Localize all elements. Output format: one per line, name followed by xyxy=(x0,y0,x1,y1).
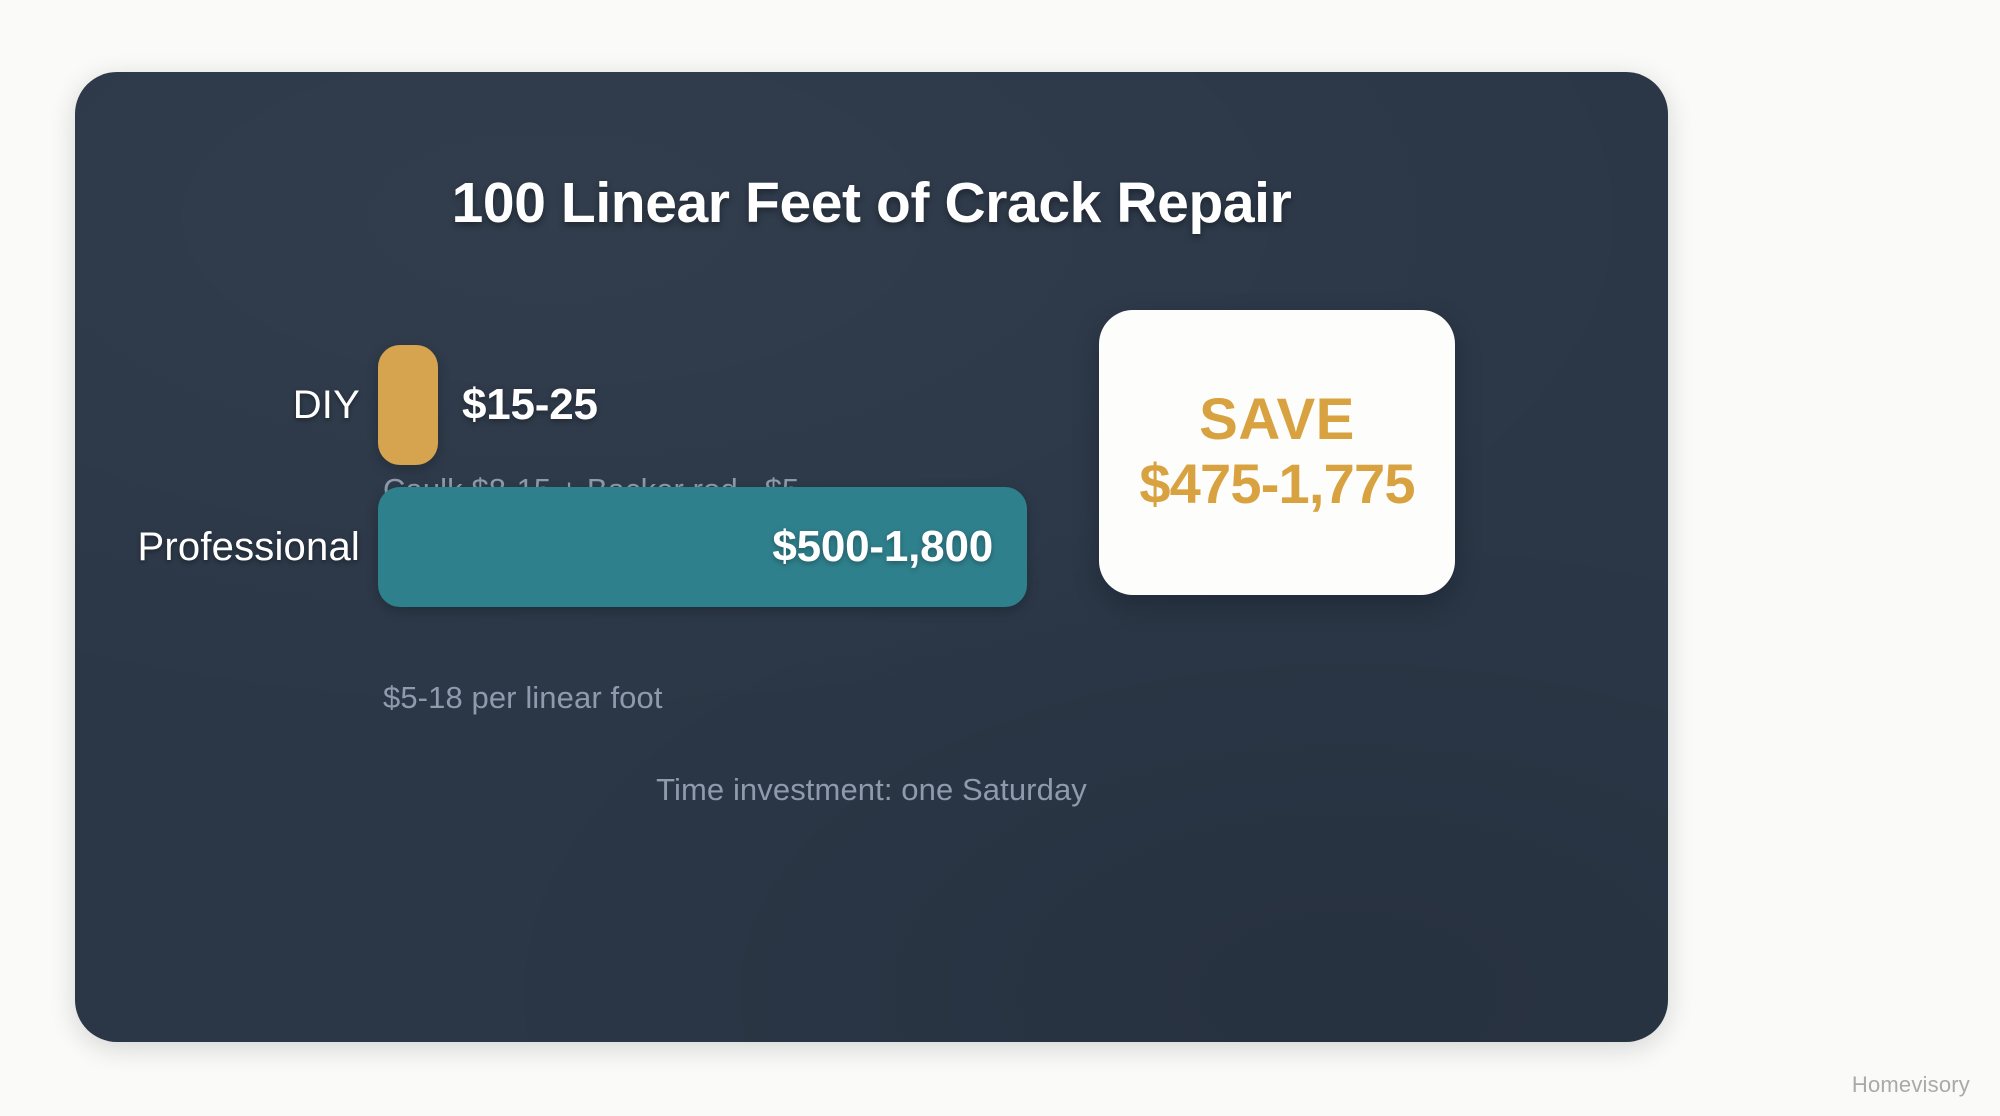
bar-track-professional: $500-1,800 xyxy=(378,487,1668,607)
bar-professional: $500-1,800 xyxy=(378,487,1027,607)
brand-watermark: Homevisory xyxy=(1852,1072,1970,1098)
savings-amount: $475-1,775 xyxy=(1139,453,1414,516)
bar-track-diy: $15-25 xyxy=(378,345,1668,465)
savings-callout-card: SAVE $475-1,775 xyxy=(1099,310,1455,595)
time-investment-note: Time investment: one Saturday xyxy=(75,772,1668,808)
infographic-panel: 100 Linear Feet of Crack Repair DIY $15-… xyxy=(75,72,1668,1042)
bar-diy xyxy=(378,345,438,465)
bar-value-professional: $500-1,800 xyxy=(772,522,993,572)
row-label-professional: Professional xyxy=(75,525,378,570)
row-label-diy: DIY xyxy=(75,383,378,428)
bar-value-diy: $15-25 xyxy=(462,380,598,430)
savings-heading: SAVE xyxy=(1199,390,1355,451)
caption-professional: $5-18 per linear foot xyxy=(383,680,663,716)
